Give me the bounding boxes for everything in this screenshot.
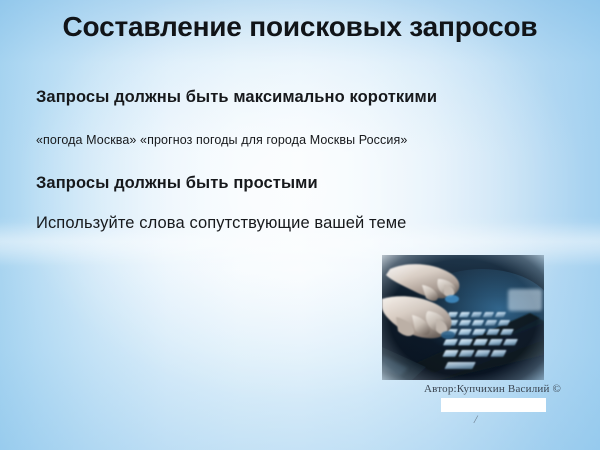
body-line-2-examples: «погода Москва» «прогноз погоды для горо…: [36, 133, 407, 147]
body-line-4: Используйте слова сопутствующие вашей те…: [36, 214, 406, 233]
hands-typing-on-keyboard-photo: [382, 255, 544, 380]
footer-white-box: [441, 398, 546, 412]
presentation-slide: Составление поисковых запросов Запросы д…: [0, 0, 600, 450]
text-cursor-mark: /: [474, 412, 477, 427]
keyboard-photo-illustration: [382, 255, 544, 380]
slide-title: Составление поисковых запросов: [0, 11, 600, 43]
body-line-1: Запросы должны быть максимально коротким…: [36, 88, 437, 107]
body-line-3: Запросы должны быть простыми: [36, 174, 318, 193]
author-credit: Автор:Купчихин Василий ©: [424, 383, 561, 395]
photo-inner-frame: [382, 255, 544, 380]
